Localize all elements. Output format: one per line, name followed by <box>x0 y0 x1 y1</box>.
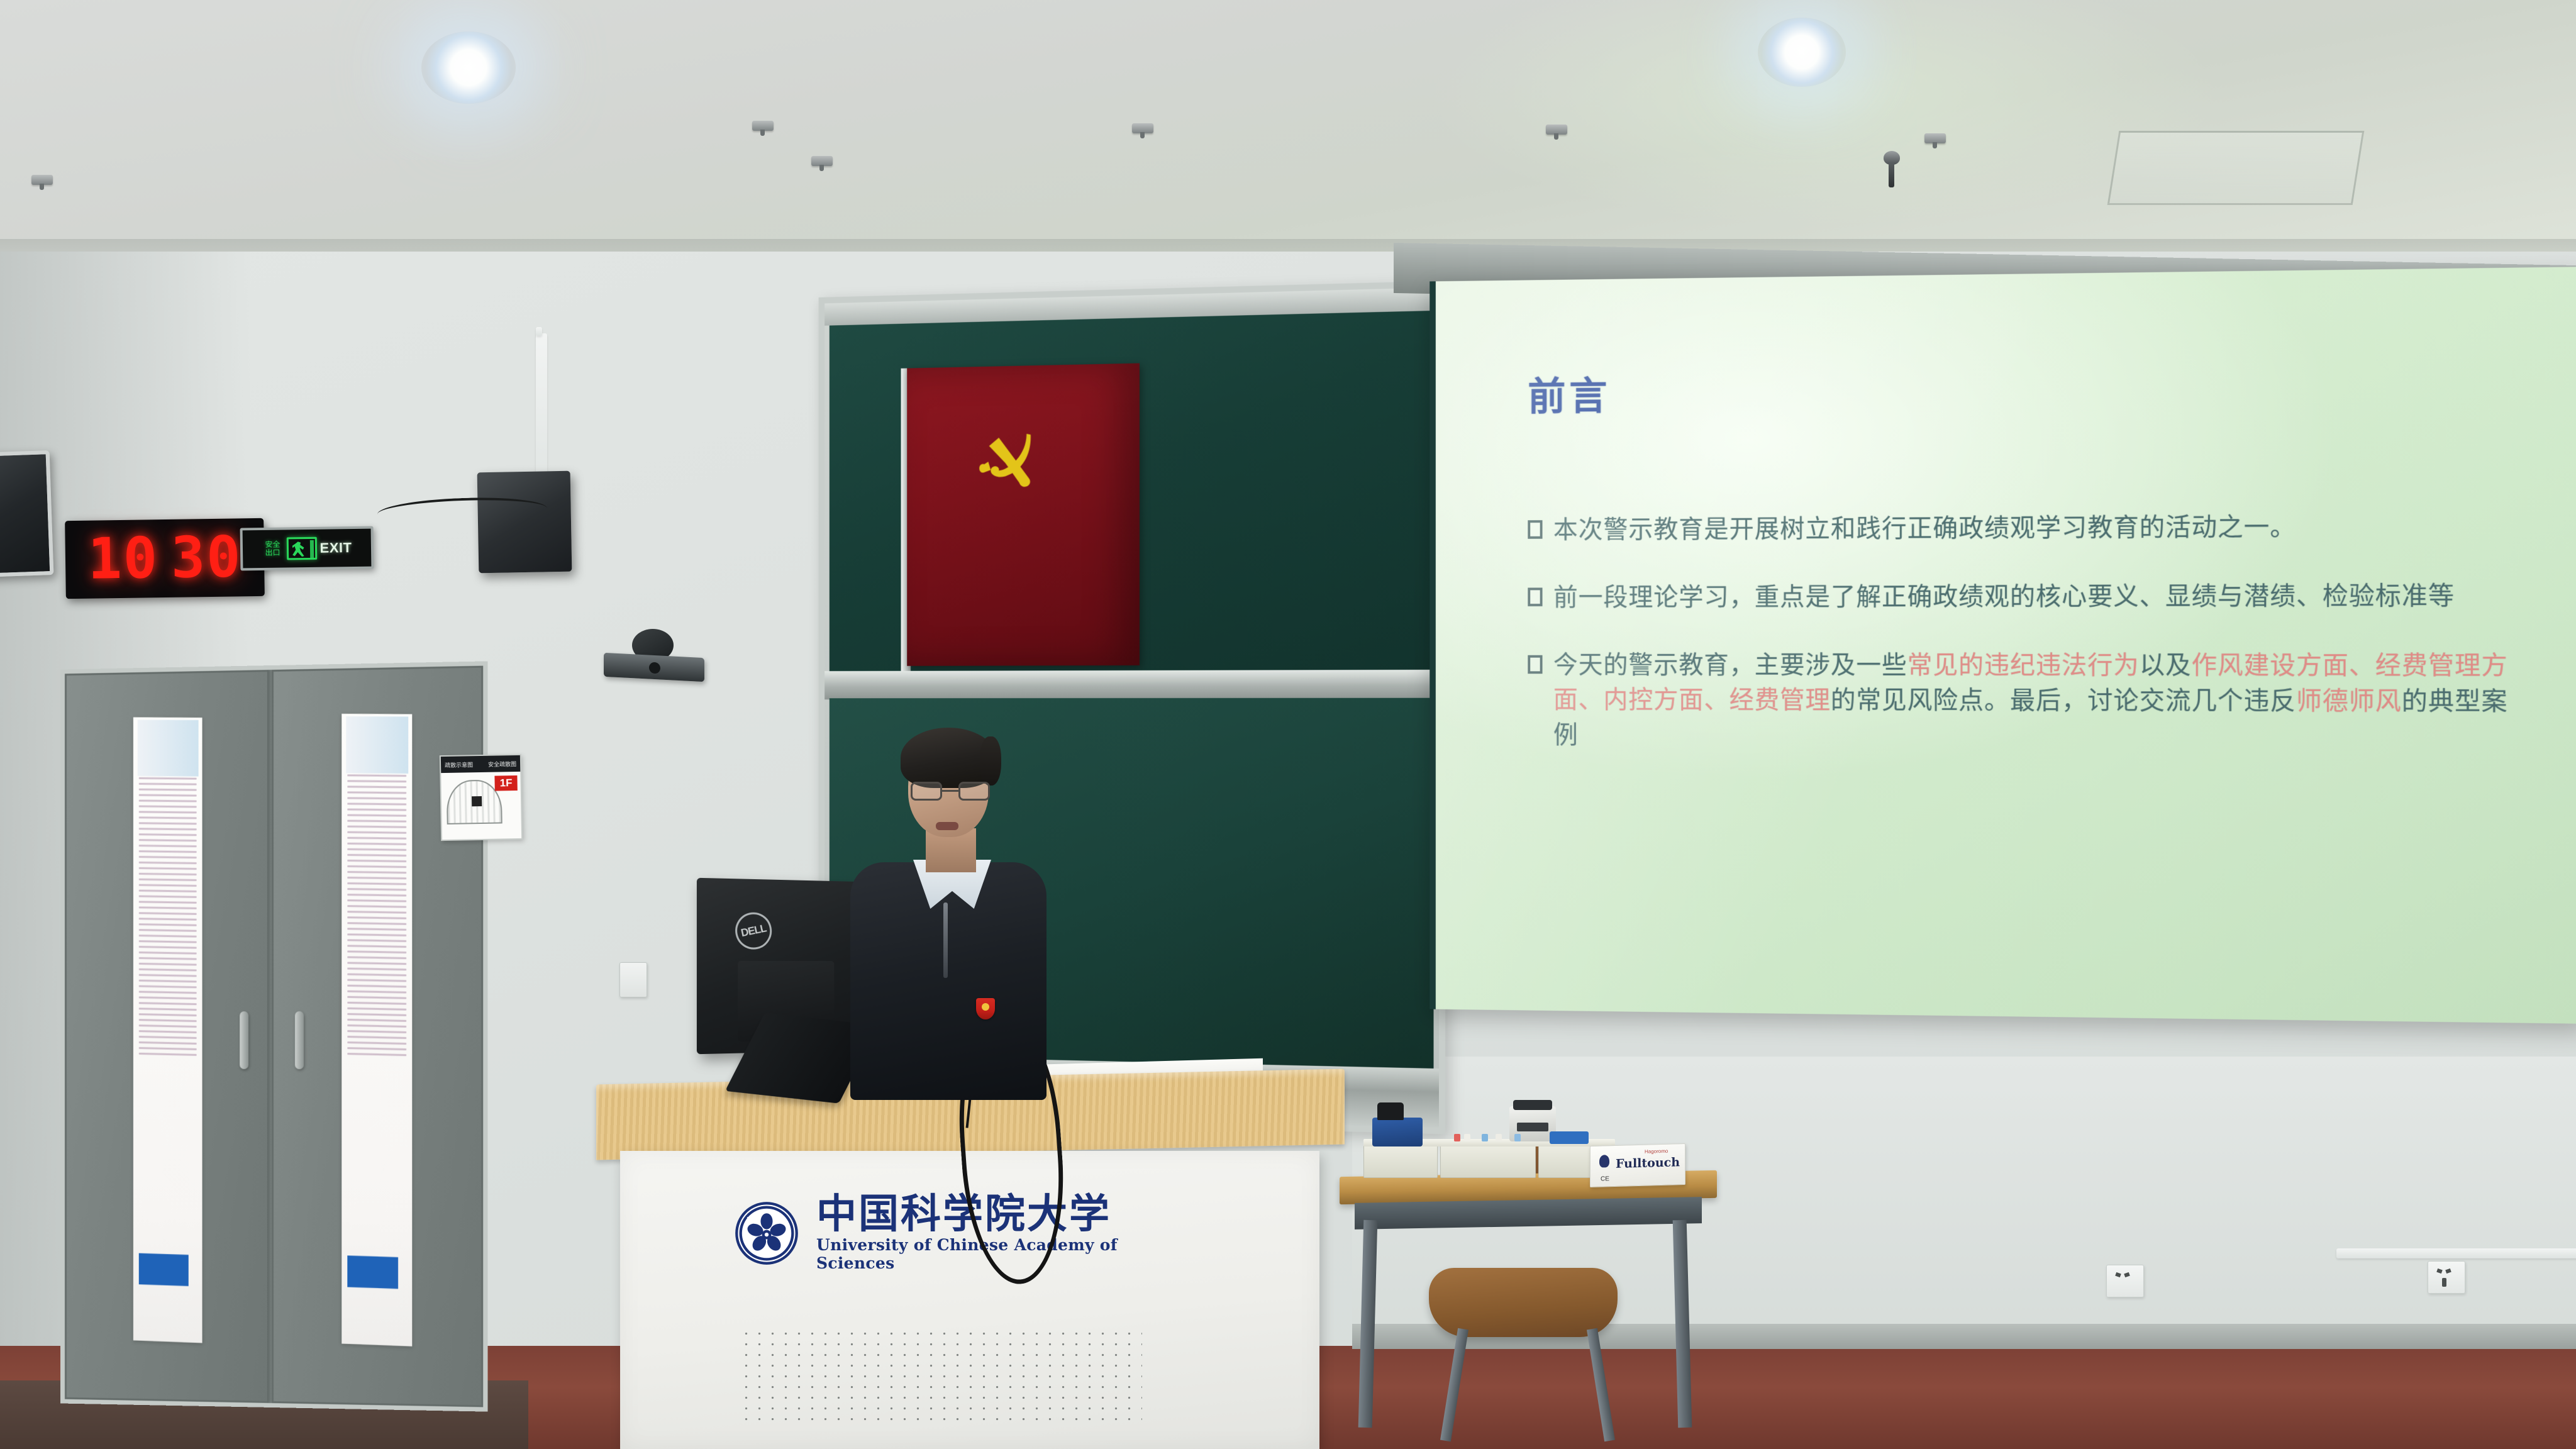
svg-text:国: 国 <box>757 1209 761 1215</box>
blackboard-middle-rail <box>824 670 1439 699</box>
door-handle-left[interactable] <box>240 1011 248 1069</box>
ceiling-access-hatch <box>2107 131 2365 205</box>
cpc-party-flag <box>907 364 1140 666</box>
table-leg-left <box>1358 1220 1378 1428</box>
chalk-piece-blue-1 <box>1482 1134 1488 1141</box>
svg-text:科: 科 <box>770 1209 775 1215</box>
chalk-holder-blue <box>1550 1131 1589 1144</box>
floorplan-header-right: 安全疏散图 <box>488 760 516 769</box>
svg-text:院: 院 <box>780 1216 786 1222</box>
wall-conduit-horizontal <box>536 327 542 336</box>
door-poster-right <box>341 714 412 1346</box>
ceiling-downlight-left <box>421 31 516 104</box>
presenter-mouth <box>936 822 958 830</box>
slide-title: 前言 <box>1528 356 2509 421</box>
bullet-plain-run: 今天的警示教育，主要涉及一些 <box>1553 651 1907 679</box>
ceiling-sprinkler-2 <box>1132 123 1153 133</box>
side-table <box>1340 1174 1717 1438</box>
slide-content: 前言 本次警示教育是开展树立和践行正确政绩观学习教育的活动之一。前一段理论学习，… <box>1436 267 2576 1024</box>
slide-bullet-1: 本次警示教育是开展树立和践行正确政绩观学习教育的活动之一。 <box>1528 508 2509 548</box>
chalk-piece-blue-2 <box>1514 1134 1521 1141</box>
power-outlet-left[interactable] <box>2106 1265 2144 1297</box>
slide-bullet-2: 前一段理论学习，重点是了解正确政绩观的核心要义、显绩与潜绩、检验标准等 <box>1528 578 2509 615</box>
bullet-marker-icon <box>1528 520 1542 539</box>
clock-minutes: 30 <box>170 529 242 587</box>
table-leg-right <box>1673 1220 1692 1428</box>
floorplan-header: 疏散示意图 安全疏散图 <box>441 755 520 773</box>
bullet-plain-run: 的常见风险点。最后，讨论交流几个违反 <box>1831 687 2296 716</box>
digital-clock: 10 30 <box>65 518 265 599</box>
podium-speaker-vents <box>740 1328 1142 1423</box>
tray-compartment-2 <box>1440 1143 1536 1178</box>
exit-label-cn: 安全出口 <box>262 541 283 557</box>
presenter-jacket <box>850 862 1046 1100</box>
blackboard-eraser <box>1372 1118 1423 1146</box>
ceiling-downlight-right <box>1758 18 1846 87</box>
dell-logo-icon: DELL <box>732 909 775 953</box>
slide-bullet-text: 本次警示教育是开展树立和践行正确政绩观学习教育的活动之一。 <box>1553 509 2296 548</box>
chalk-tray <box>1363 1129 1615 1178</box>
ceiling-camera-icon <box>1884 151 1900 165</box>
slide-bullet-3: 今天的警示教育，主要涉及一些常见的违纪违法行为以及作风建设方面、经费管理方面、内… <box>1528 648 2509 757</box>
classroom-door[interactable] <box>60 661 487 1411</box>
slide-bullet-list: 本次警示教育是开展树立和践行正确政绩观学习教育的活动之一。前一段理论学习，重点是… <box>1528 508 2509 757</box>
poster-header <box>137 720 198 777</box>
door-handle-right[interactable] <box>295 1011 304 1069</box>
running-person-icon <box>286 537 316 560</box>
emergency-exit-sign: 安全出口 EXIT <box>240 526 374 571</box>
bullet-highlight-run: 常见的违纪违法行为 <box>1907 652 2140 679</box>
presenter-jacket-zipper <box>943 902 948 978</box>
slide-bullet-text: 前一段理论学习，重点是了解正确政绩观的核心要义、显绩与潜绩、检验标准等 <box>1553 578 2455 615</box>
chalk-ce-mark: CE <box>1601 1175 1609 1182</box>
bullet-plain-run: 本次警示教育是开展树立和践行正确政绩观学习教育的活动之一。 <box>1553 513 2296 544</box>
chalk-piece-white-2 <box>1496 1134 1502 1141</box>
ceiling-sprinkler-6 <box>811 156 833 166</box>
ucas-name-en: University of Chinese Academy of Science… <box>816 1236 1136 1272</box>
power-outlet-right[interactable] <box>2428 1261 2465 1294</box>
poster-text-lines <box>139 777 197 1056</box>
bullet-highlight-run: 师德师风 <box>2296 687 2402 716</box>
lectern-podium: 中国 科院 中国科学院大学 University of Chinese Acad… <box>596 1077 1345 1449</box>
ucas-seal-icon: 中国 科院 <box>733 1200 800 1267</box>
table-apron <box>1355 1197 1702 1230</box>
evacuation-floorplan-sign: 疏散示意图 安全疏散图 1F <box>440 754 523 841</box>
ptz-camera-icon <box>604 629 704 676</box>
classroom-photo: 10 30 安全出口 EXIT <box>0 0 2576 1449</box>
chalk-box-fulltouch: Hagoromo Fulltouch CE <box>1590 1143 1685 1187</box>
light-switch[interactable] <box>619 962 647 997</box>
floorplan-floor-badge: 1F <box>494 775 517 791</box>
projection-screen: 前言 本次警示教育是开展树立和践行正确政绩观学习教育的活动之一。前一段理论学习，… <box>1430 267 2576 1024</box>
chalk-piece-white-1 <box>1464 1134 1470 1141</box>
chalk-piece-red <box>1454 1134 1460 1141</box>
bullet-marker-icon <box>1528 655 1542 674</box>
door-leaf-left[interactable] <box>65 670 272 1403</box>
presenter-glasses-icon <box>911 782 990 801</box>
bullet-marker-icon <box>1528 587 1542 606</box>
wall-speaker-left <box>0 450 53 577</box>
slide-bullet-text: 今天的警示教育，主要涉及一些常见的违纪违法行为以及作风建设方面、经费管理方面、内… <box>1553 648 2510 757</box>
floorplan-header-left: 疏散示意图 <box>445 760 473 769</box>
chalk-brand-sub: Hagoromo <box>1645 1148 1668 1155</box>
door-poster-left <box>133 717 203 1342</box>
blackboard-panel-upper <box>830 311 1434 671</box>
presenter-hair <box>901 728 996 788</box>
poster-footer-badge <box>139 1253 189 1285</box>
hammer-and-sickle-icon <box>961 420 1053 504</box>
bullet-plain-run: 以及 <box>2140 652 2192 679</box>
ceiling-sprinkler-5 <box>31 175 53 185</box>
ceiling-sprinkler-4 <box>1924 133 1946 143</box>
ceiling-sprinkler-3 <box>1546 125 1567 135</box>
exit-label-en: EXIT <box>319 540 352 557</box>
wall-conduit-right <box>2336 1248 2576 1258</box>
presenter-person <box>843 714 1050 1097</box>
bullet-plain-run: 前一段理论学习，重点是了解正确政绩观的核心要义、显绩与潜绩、检验标准等 <box>1553 582 2455 611</box>
tray-compartment-1 <box>1363 1143 1438 1178</box>
poster-header <box>346 716 408 774</box>
chalk-brand-name: Fulltouch <box>1616 1155 1680 1171</box>
chalk-brand-mark-icon <box>1599 1155 1609 1167</box>
party-member-badge-icon <box>976 998 995 1019</box>
svg-text:中: 中 <box>747 1215 751 1221</box>
floorplan-map-graphic <box>447 779 502 824</box>
poster-footer-badge <box>347 1255 398 1289</box>
clock-hours: 10 <box>87 530 159 588</box>
ceiling-sprinkler-1 <box>752 121 774 131</box>
poster-text-lines <box>347 774 406 1056</box>
ucas-logo: 中国 科院 中国科学院大学 University of Chinese Acad… <box>733 1196 1136 1270</box>
